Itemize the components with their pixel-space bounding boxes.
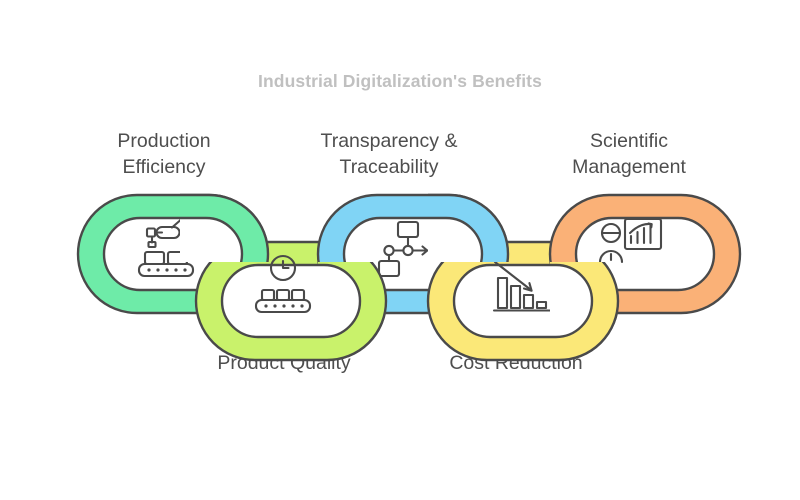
infographic-canvas: Industrial Digitalization's Benefits Pro… — [0, 0, 800, 500]
chain-graphic — [0, 0, 800, 500]
